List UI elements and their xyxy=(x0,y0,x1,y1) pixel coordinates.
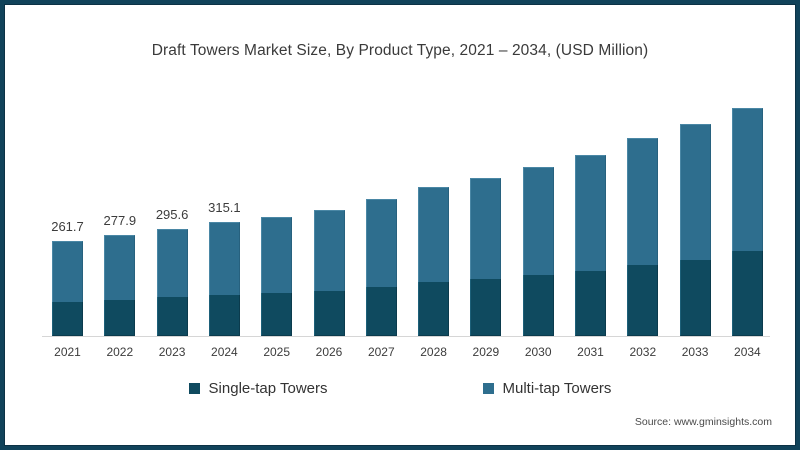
x-axis-tick-2026: 2026 xyxy=(314,345,345,359)
bar-segment-multi-tap[interactable] xyxy=(418,187,449,282)
bar-segment-single-tap[interactable] xyxy=(732,251,763,336)
plot-area: 261.7277.9295.6315.1 xyxy=(42,89,768,336)
bar-group-2022[interactable]: 277.9 xyxy=(104,235,135,336)
bar-stack: 261.7 xyxy=(52,241,83,336)
chart-frame: Draft Towers Market Size, By Product Typ… xyxy=(0,0,800,450)
bar-segment-multi-tap[interactable] xyxy=(157,229,188,298)
bar-stack xyxy=(523,167,554,336)
bar-group-2027[interactable] xyxy=(366,199,397,336)
bar-value-label-2022: 277.9 xyxy=(104,213,137,228)
bar-group-2031[interactable] xyxy=(575,155,606,336)
x-axis-tick-2032: 2032 xyxy=(627,345,658,359)
bar-segment-multi-tap[interactable] xyxy=(470,178,501,279)
x-axis-baseline xyxy=(42,336,770,337)
bar-stack xyxy=(470,178,501,336)
bar-segment-single-tap[interactable] xyxy=(523,275,554,336)
x-axis-tick-2028: 2028 xyxy=(418,345,449,359)
bar-segment-multi-tap[interactable] xyxy=(261,217,292,293)
x-axis-tick-2023: 2023 xyxy=(157,345,188,359)
bar-stack xyxy=(627,138,658,336)
bar-segment-single-tap[interactable] xyxy=(209,295,240,336)
bar-segment-single-tap[interactable] xyxy=(52,302,83,336)
x-axis-tick-2022: 2022 xyxy=(104,345,135,359)
bar-group-2032[interactable] xyxy=(627,138,658,336)
bar-group-2033[interactable] xyxy=(680,124,711,336)
bar-stack: 315.1 xyxy=(209,222,240,336)
bar-stack xyxy=(680,124,711,336)
legend-item-multi-tap[interactable]: Multi-tap Towers xyxy=(483,380,612,397)
bar-segment-single-tap[interactable] xyxy=(575,271,606,336)
source-attribution: Source: www.gminsights.com xyxy=(635,416,772,428)
bar-group-2029[interactable] xyxy=(470,178,501,336)
bar-group-2028[interactable] xyxy=(418,187,449,336)
x-axis-tick-2027: 2027 xyxy=(366,345,397,359)
bar-group-2024[interactable]: 315.1 xyxy=(209,222,240,336)
bar-segment-multi-tap[interactable] xyxy=(209,222,240,295)
bar-stack: 295.6 xyxy=(157,229,188,336)
bar-segment-single-tap[interactable] xyxy=(680,260,711,336)
x-axis-tick-2030: 2030 xyxy=(523,345,554,359)
bar-stack xyxy=(314,210,345,336)
bar-segment-multi-tap[interactable] xyxy=(575,155,606,271)
x-axis-tick-2025: 2025 xyxy=(261,345,292,359)
bar-segment-multi-tap[interactable] xyxy=(732,108,763,250)
x-axis-tick-2021: 2021 xyxy=(52,345,83,359)
bar-stack: 277.9 xyxy=(104,235,135,336)
bar-segment-single-tap[interactable] xyxy=(627,265,658,336)
x-axis-tick-2029: 2029 xyxy=(470,345,501,359)
chart-title: Draft Towers Market Size, By Product Typ… xyxy=(4,42,796,60)
bar-group-2026[interactable] xyxy=(314,210,345,336)
bar-segment-multi-tap[interactable] xyxy=(523,167,554,275)
bar-segment-single-tap[interactable] xyxy=(314,291,345,336)
bar-segment-multi-tap[interactable] xyxy=(680,124,711,260)
bar-value-label-2023: 295.6 xyxy=(156,207,189,222)
legend-swatch-multi-tap-icon xyxy=(483,383,494,394)
bar-segment-single-tap[interactable] xyxy=(366,287,397,336)
bar-stack xyxy=(261,217,292,336)
bar-segment-multi-tap[interactable] xyxy=(104,235,135,300)
legend-label-single-tap: Single-tap Towers xyxy=(209,380,328,397)
legend-swatch-single-tap-icon xyxy=(189,383,200,394)
bar-stack xyxy=(732,108,763,336)
x-axis-tick-2031: 2031 xyxy=(575,345,606,359)
legend-item-single-tap[interactable]: Single-tap Towers xyxy=(189,380,328,397)
bar-group-2034[interactable] xyxy=(732,108,763,336)
bar-group-2025[interactable] xyxy=(261,217,292,336)
bar-segment-single-tap[interactable] xyxy=(104,300,135,336)
bar-segment-multi-tap[interactable] xyxy=(627,138,658,265)
legend-label-multi-tap: Multi-tap Towers xyxy=(503,380,612,397)
bar-group-2021[interactable]: 261.7 xyxy=(52,241,83,336)
bar-segment-multi-tap[interactable] xyxy=(314,210,345,290)
bar-segment-multi-tap[interactable] xyxy=(52,241,83,302)
x-axis-tick-2024: 2024 xyxy=(209,345,240,359)
bar-stack xyxy=(418,187,449,336)
bar-group-2030[interactable] xyxy=(523,167,554,336)
bar-stack xyxy=(366,199,397,336)
bar-value-label-2024: 315.1 xyxy=(208,200,241,215)
bar-segment-single-tap[interactable] xyxy=(418,282,449,336)
bar-value-label-2021: 261.7 xyxy=(51,219,84,234)
chart-legend: Single-tap Towers Multi-tap Towers xyxy=(4,380,796,397)
x-axis-tick-2033: 2033 xyxy=(680,345,711,359)
bar-segment-single-tap[interactable] xyxy=(157,297,188,336)
bar-segment-single-tap[interactable] xyxy=(470,279,501,336)
bar-segment-single-tap[interactable] xyxy=(261,293,292,336)
bar-segment-multi-tap[interactable] xyxy=(366,199,397,287)
bar-stack xyxy=(575,155,606,336)
bar-group-2023[interactable]: 295.6 xyxy=(157,229,188,336)
x-axis-tick-2034: 2034 xyxy=(732,345,763,359)
